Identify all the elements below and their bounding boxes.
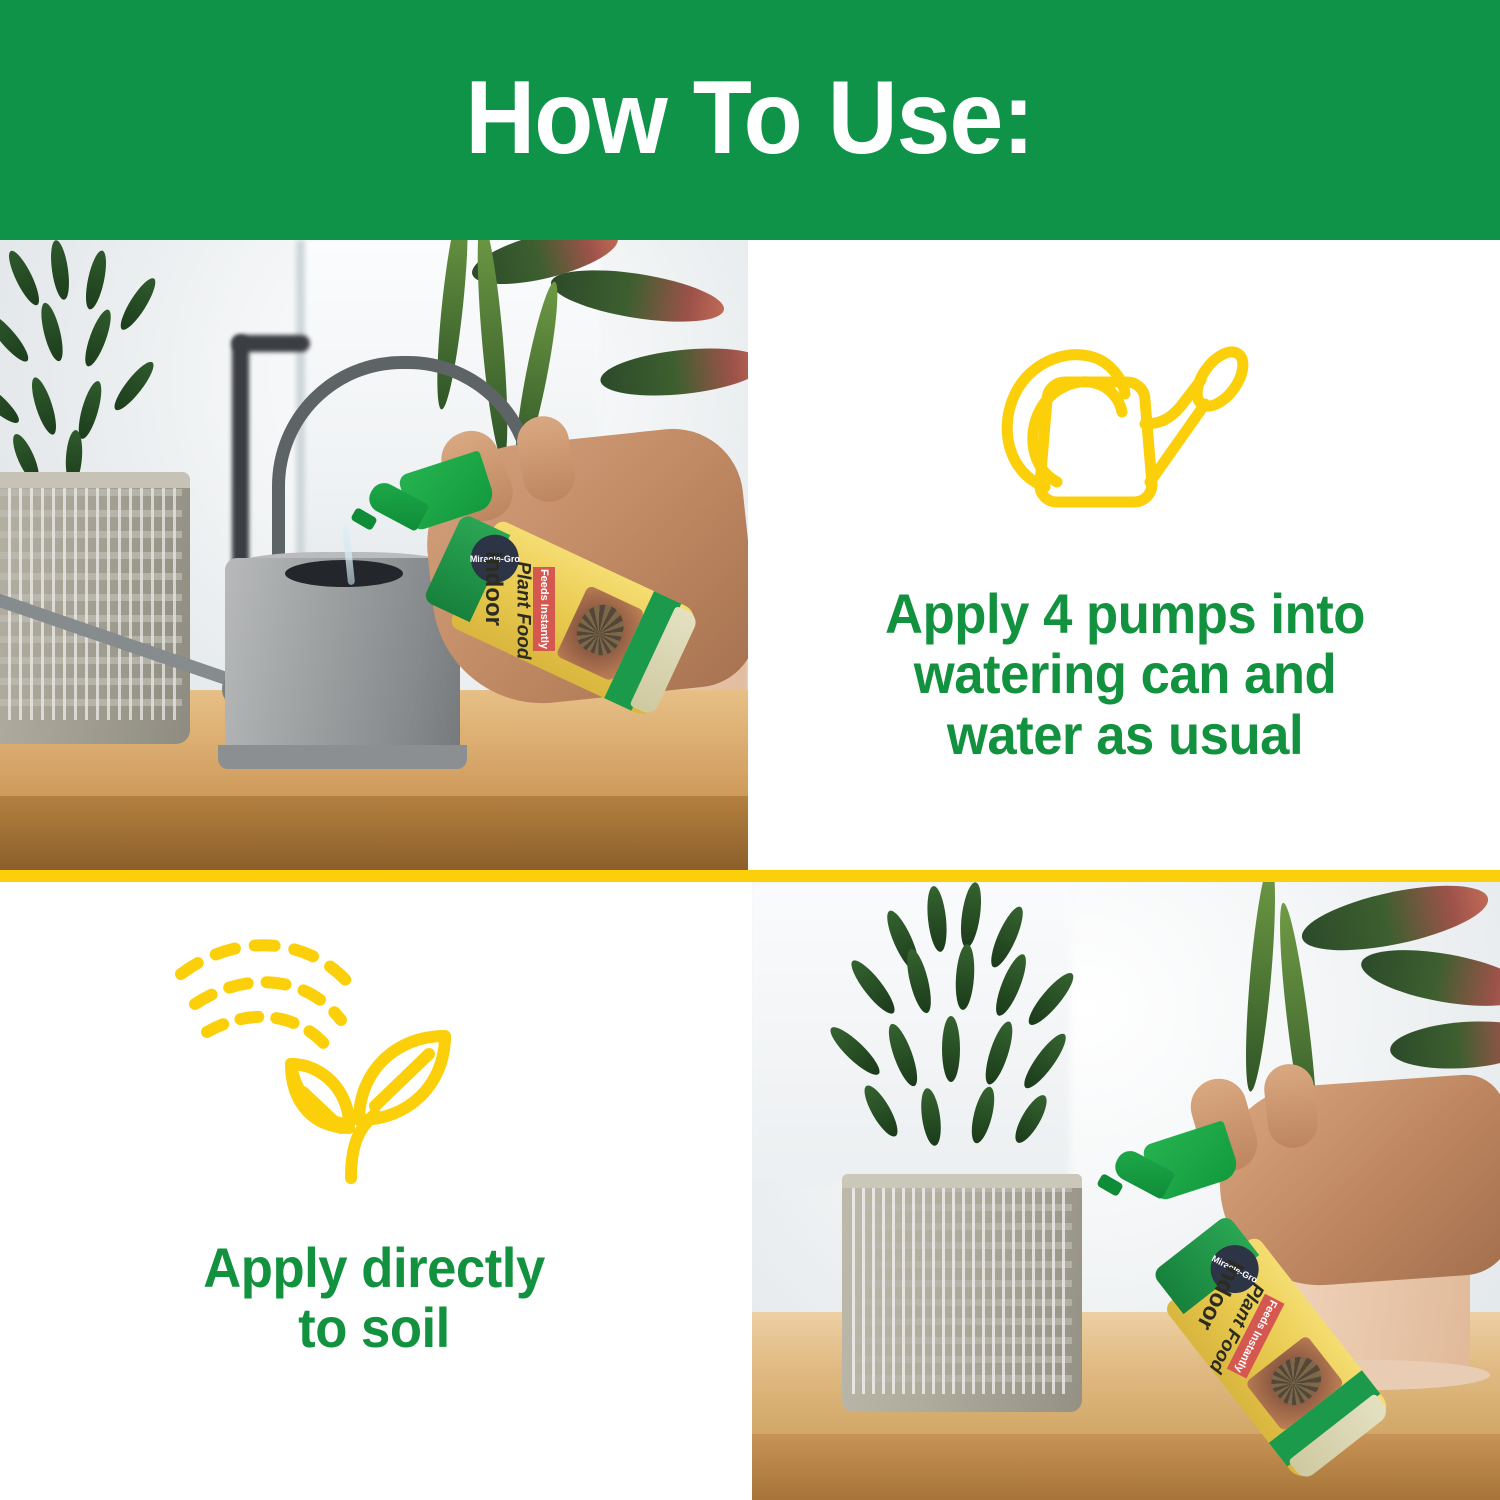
ceramic-pot-rim <box>0 472 190 488</box>
watering-can-base <box>218 745 467 769</box>
watering-can-icon <box>985 332 1265 522</box>
text-line-1: Apply directly <box>73 1238 675 1298</box>
panel-top-right-content: Apply 4 pumps into watering can and wate… <box>750 240 1500 870</box>
product-claim-label: Feeds Instantly <box>538 569 550 649</box>
header-banner: How To Use: <box>0 0 1500 240</box>
snake-plant-leaf <box>1240 882 1281 1092</box>
watering-can-opening <box>285 560 403 587</box>
text-line-3: water as usual <box>815 705 1435 765</box>
text-line-1: Apply 4 pumps into <box>815 584 1435 644</box>
plant-spray-icon <box>163 928 493 1198</box>
text-line-2: to soil <box>73 1298 675 1358</box>
vertical-divider-top <box>748 240 752 870</box>
text-line-2: watering can and <box>815 644 1435 704</box>
vertical-divider-bottom <box>748 882 752 1500</box>
photo-top-left: Miracle-Gro Indoor Plant Food Feeds Inst… <box>0 240 748 870</box>
horizontal-divider <box>0 870 1500 882</box>
panel-bottom-left: Apply directly to soil <box>0 882 748 1500</box>
photo-bottom-right: Miracle-Gro Indoor Plant Food Feeds Inst… <box>750 882 1500 1500</box>
page-title: How To Use: <box>466 66 1034 170</box>
ceramic-pot <box>842 1174 1082 1412</box>
aglaonema-leaf <box>598 341 748 402</box>
aglaonema-leaf <box>548 261 728 332</box>
table-edge <box>0 796 748 870</box>
how-to-use-infographic: How To Use: <box>0 0 1500 1500</box>
ceramic-pot-rim <box>842 1174 1082 1188</box>
zz-plant-left <box>0 240 230 490</box>
table-edge <box>750 1434 1500 1500</box>
product-claim-banner: Feeds Instantly <box>533 567 555 651</box>
photo-top-left-scene: Miracle-Gro Indoor Plant Food Feeds Inst… <box>0 240 748 870</box>
faucet-spout <box>232 335 310 352</box>
aglaonema-leaf <box>1357 940 1500 1017</box>
panel-top-right-text: Apply 4 pumps into watering can and wate… <box>815 584 1435 765</box>
zz-plant <box>810 882 1140 1182</box>
photo-bottom-right-scene: Miracle-Gro Indoor Plant Food Feeds Inst… <box>750 882 1500 1500</box>
faucet-icon <box>232 335 249 570</box>
aglaonema-leaf <box>1389 1017 1500 1073</box>
panel-bottom-left-content: Apply directly to soil <box>0 882 748 1500</box>
product-name-line1: Indoor <box>479 551 507 626</box>
panel-top-right: Apply 4 pumps into watering can and wate… <box>750 240 1500 870</box>
product-name-line2: Plant Food <box>511 561 533 659</box>
panel-bottom-left-text: Apply directly to soil <box>73 1238 675 1359</box>
